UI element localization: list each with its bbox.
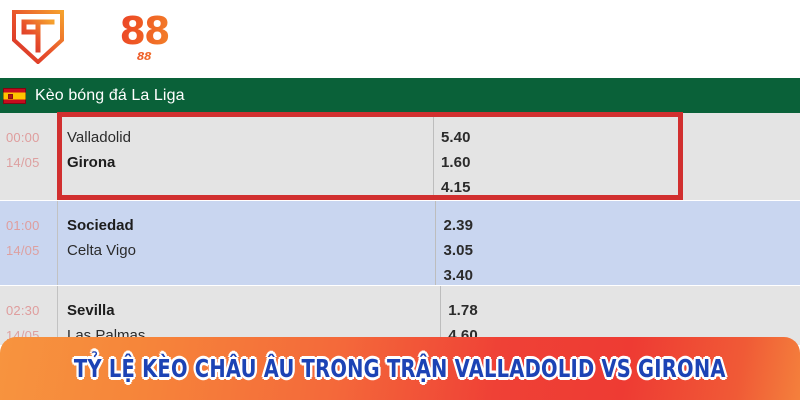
league-header-bar: Kèo bóng đá La Liga xyxy=(0,78,800,113)
row-empty-space xyxy=(500,201,800,286)
match-odds-table: 00:00 14/05 Valladolid Girona 5.40 1.60 … xyxy=(0,113,800,345)
brand-88-sub-text: 88 xyxy=(104,51,184,62)
match-time: 01:00 xyxy=(6,213,57,238)
odd-home[interactable]: 2.39 xyxy=(443,213,500,238)
logo-bar: 88 88 xyxy=(0,0,800,78)
row-empty-space xyxy=(498,113,800,201)
match-odds-cell[interactable]: 5.40 1.60 4.15 xyxy=(433,113,498,201)
shield-monogram-logo[interactable] xyxy=(12,10,64,64)
league-title: Kèo bóng đá La Liga xyxy=(35,87,185,105)
match-datetime-cell: 00:00 14/05 xyxy=(0,113,57,201)
table-row[interactable]: 01:00 14/05 Sociedad Celta Vigo 2.39 3.0… xyxy=(0,201,800,286)
match-datetime-cell: 01:00 14/05 xyxy=(0,201,57,286)
match-odds-cell[interactable]: 2.39 3.05 3.40 xyxy=(435,201,500,286)
table-row[interactable]: 00:00 14/05 Valladolid Girona 5.40 1.60 … xyxy=(0,113,800,201)
odd-home[interactable]: 5.40 xyxy=(441,125,498,150)
banner-title-text: TỶ LỆ KÈO CHÂU ÂU TRONG TRẬN VALLADOLID … xyxy=(74,354,726,384)
match-date: 14/05 xyxy=(6,150,57,175)
page-root: 88 88 Kèo bóng đá La Liga 00:00 14/05 Va… xyxy=(0,0,800,400)
away-team-name: Celta Vigo xyxy=(67,238,435,263)
match-time: 02:30 xyxy=(6,298,57,323)
home-team-name: Sevilla xyxy=(67,298,440,323)
match-teams-cell: Valladolid Girona xyxy=(57,113,433,201)
brand-88-main-text: 88 xyxy=(104,12,184,50)
odd-away[interactable]: 4.15 xyxy=(441,175,498,200)
match-date: 14/05 xyxy=(6,238,57,263)
spain-flag-icon xyxy=(3,88,26,104)
match-teams-cell: Sociedad Celta Vigo xyxy=(57,201,435,286)
brand-88-logo[interactable]: 88 88 xyxy=(104,12,184,68)
home-team-name: Valladolid xyxy=(67,125,433,150)
away-team-name: Girona xyxy=(67,150,433,175)
match-time: 00:00 xyxy=(6,125,57,150)
bottom-title-banner: TỶ LỆ KÈO CHÂU ÂU TRONG TRẬN VALLADOLID … xyxy=(0,337,800,400)
odd-draw[interactable]: 1.60 xyxy=(441,150,498,175)
odd-home[interactable]: 1.78 xyxy=(448,298,505,323)
odd-draw[interactable]: 3.05 xyxy=(443,238,500,263)
home-team-name: Sociedad xyxy=(67,213,435,238)
